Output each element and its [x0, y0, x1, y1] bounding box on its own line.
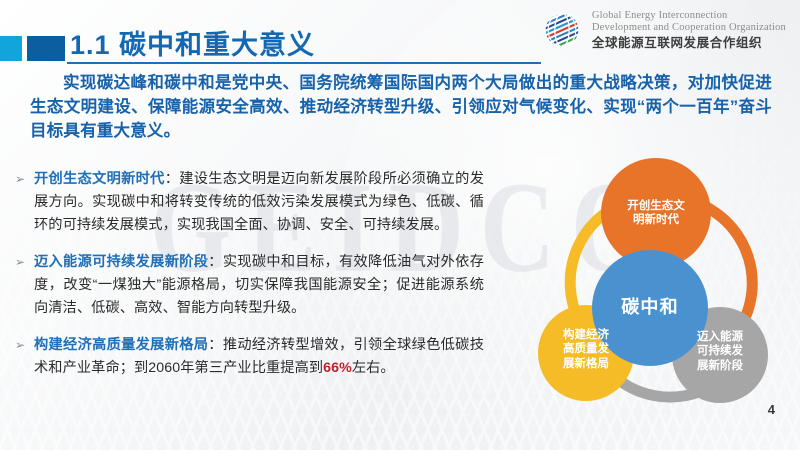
logo-text-group: Global Energy Interconnection Developmen…	[592, 10, 786, 50]
list-item: ➢ 构建经济高质量发展新格局：推动经济转型增效，引领全球绿色低碳技术和产业革命；…	[14, 334, 484, 380]
bullet-list: ➢ 开创生态文明新时代：建设生态文明是迈向新发展阶段所必须确立的发展方向。实现碳…	[14, 168, 484, 380]
header-accent-block-dark	[27, 36, 65, 61]
node-circle-center	[592, 250, 708, 366]
logo-english-line-1: Global Energy Interconnection	[592, 10, 786, 22]
header-accent-block-light	[0, 36, 22, 61]
bullet-arrow-icon: ➢	[15, 256, 25, 268]
concept-diagram: 开创生态文 明新时代 碳中和 迈入能源 可持续发 展新阶段 构建经济 高质量发 …	[528, 150, 798, 425]
logo-english-line-2: Development and Cooperation Organization	[592, 22, 786, 34]
list-item: ➢ 迈入能源可持续发展新阶段：实现碳中和目标，有效降低油气对外依存度，改变“一煤…	[14, 251, 484, 320]
bullet-highlight-value: 66%	[323, 360, 352, 376]
bullet-term: 开创生态文明新时代	[34, 171, 165, 187]
list-item: ➢ 开创生态文明新时代：建设生态文明是迈向新发展阶段所必须确立的发展方向。实现碳…	[14, 168, 484, 237]
slide-canvas: GEIDCO 1.1 碳中和重大意义	[0, 0, 800, 450]
bullet-arrow-icon: ➢	[15, 173, 25, 185]
bullet-arrow-icon: ➢	[15, 339, 25, 351]
page-number: 4	[768, 402, 775, 417]
bullet-term: 构建经济高质量发展新格局	[34, 337, 208, 353]
bullet-separator: ：	[165, 171, 180, 187]
diagram-svg	[528, 150, 798, 425]
bullet-separator: ：	[208, 337, 223, 353]
logo-chinese-name: 全球能源互联网发展合作组织	[592, 36, 786, 50]
bullet-term: 迈入能源可持续发展新阶段	[34, 254, 208, 270]
header-underline	[67, 62, 541, 64]
organization-logo: Global Energy Interconnection Developmen…	[541, 9, 786, 51]
bullet-body-tail: 左右。	[352, 360, 395, 376]
bullet-separator: ：	[208, 254, 223, 270]
lead-paragraph: 实现碳达峰和碳中和是党中央、国务院统筹国际国内两个大局做出的重大战略决策，对加快…	[30, 72, 772, 144]
globe-icon	[541, 9, 583, 51]
page-title: 1.1 碳中和重大意义	[70, 23, 315, 62]
